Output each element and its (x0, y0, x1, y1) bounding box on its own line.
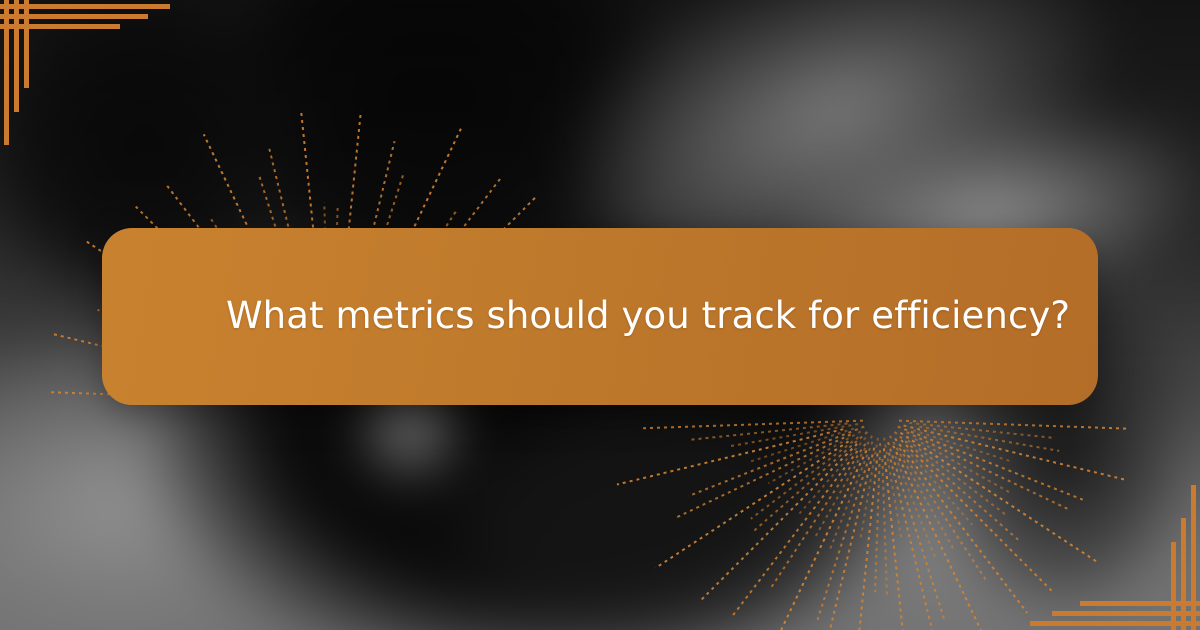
social-card-canvas: What metrics should you track for effici… (0, 0, 1200, 630)
question-banner: What metrics should you track for effici… (102, 228, 1098, 405)
question-text: What metrics should you track for effici… (226, 293, 1070, 339)
